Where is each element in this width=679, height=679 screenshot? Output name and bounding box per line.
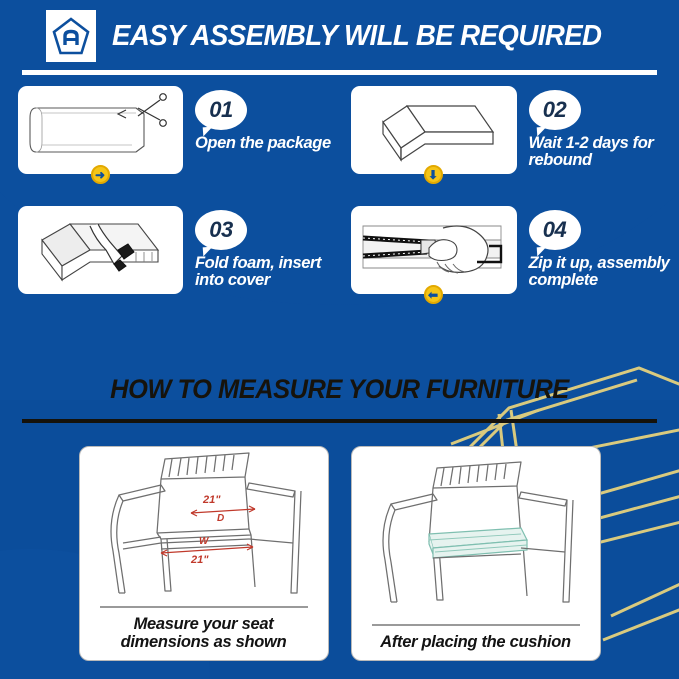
step-01-label: Open the package [195, 135, 331, 152]
step-04-text: 04 Zip it up, assembly complete [529, 206, 679, 290]
step-04-number: 04 [529, 210, 581, 250]
step-03: 03 Fold foam, insert into cover [0, 206, 340, 294]
step-04-illustration-card: ⬅ [351, 206, 517, 294]
step-02: ⬇ 02 Wait 1-2 days for rebound [340, 86, 679, 174]
step-01: ➜ 01 Open the package [0, 86, 340, 174]
house-pentagon-a-icon [46, 10, 96, 62]
step-02-illustration-card: ⬇ [351, 86, 517, 174]
step-01-illustration-card: ➜ [18, 86, 183, 174]
infographic-root: EASY ASSEMBLY WILL BE REQUIRED [0, 0, 679, 679]
measure-title: HOW TO MEASURE YOUR FURNITURE [14, 374, 666, 405]
chair-with-cushion-illustration [352, 447, 600, 624]
measure-section: HOW TO MEASURE YOUR FURNITURE [0, 318, 679, 679]
measure-divider [22, 419, 657, 423]
svg-text:D: D [217, 513, 224, 524]
sealed-package-with-scissors-illustration [18, 86, 183, 174]
arrow-left-icon: ⬅ [424, 285, 443, 304]
step-04-label: Zip it up, assembly complete [529, 255, 679, 290]
folded-foam-into-cover-illustration [18, 206, 183, 294]
step-02-number: 02 [529, 90, 581, 130]
measure-panel-caption: After placing the cushion [372, 626, 579, 660]
arrow-down-icon: ⬇ [424, 165, 443, 184]
step-03-text: 03 Fold foam, insert into cover [195, 206, 340, 290]
flat-foam-cushion-illustration [351, 86, 517, 174]
step-03-label: Fold foam, insert into cover [195, 255, 340, 290]
svg-text:W: W [199, 536, 210, 547]
assembly-steps: ➜ 01 Open the package [0, 86, 679, 294]
header: EASY ASSEMBLY WILL BE REQUIRED [0, 0, 679, 72]
chair-with-measurements-illustration: 21" D W 21" [80, 447, 328, 606]
step-02-text: 02 Wait 1-2 days for rebound [529, 86, 679, 170]
steps-row-1: ➜ 01 Open the package [0, 86, 679, 174]
header-title: EASY ASSEMBLY WILL BE REQUIRED [112, 20, 601, 53]
hand-zipping-cushion-illustration [351, 206, 517, 294]
step-03-number: 03 [195, 210, 247, 250]
svg-text:21": 21" [202, 494, 221, 506]
measure-panel-caption: Measure your seat dimensions as shown [80, 608, 328, 660]
step-01-text: 01 Open the package [195, 86, 331, 152]
step-03-illustration-card [18, 206, 183, 294]
svg-text:21": 21" [190, 554, 209, 566]
measure-panels: 21" D W 21" Measure your seat dimensions… [0, 446, 679, 661]
step-04: ⬅ 04 Zip it up, assembly complete [340, 206, 679, 294]
step-01-number: 01 [195, 90, 247, 130]
header-divider [22, 70, 657, 75]
measure-panel-cushion: After placing the cushion [351, 446, 601, 661]
arrow-right-icon: ➜ [91, 165, 110, 184]
steps-row-2: 03 Fold foam, insert into cover [0, 206, 679, 294]
step-02-label: Wait 1-2 days for rebound [529, 135, 679, 170]
measure-panel-dimensions: 21" D W 21" Measure your seat dimensions… [79, 446, 329, 661]
